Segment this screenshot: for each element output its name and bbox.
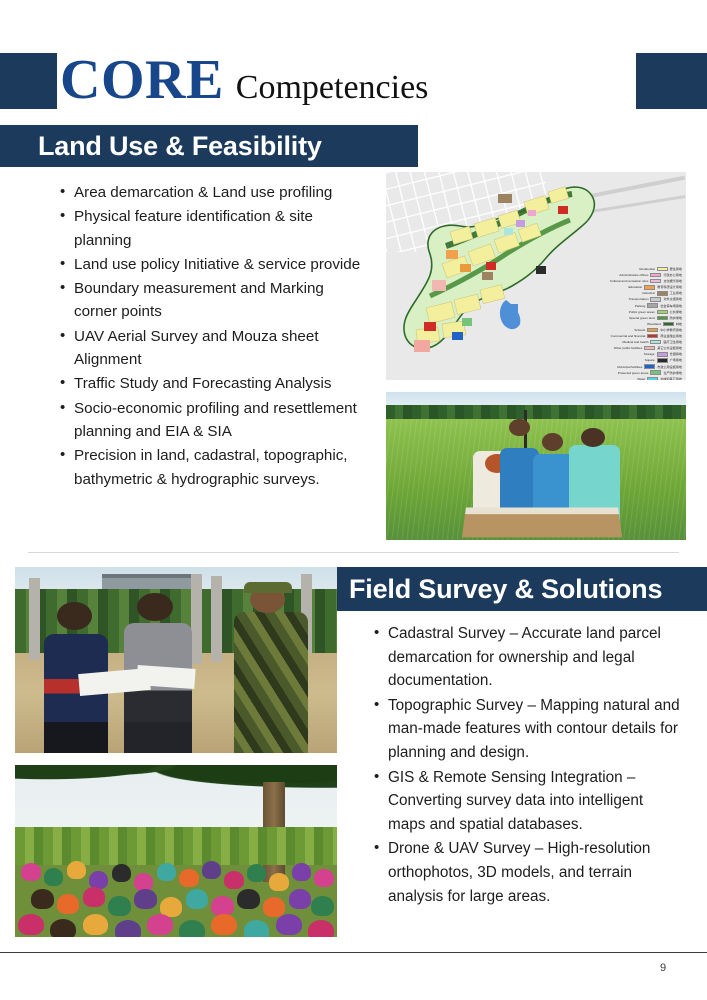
legend-swatch	[657, 291, 668, 295]
military-cap	[244, 582, 292, 593]
legend-swatch	[647, 334, 658, 338]
legend-swatch	[657, 310, 668, 314]
map-legend: Residential 居住用地 Administrative offices …	[582, 266, 682, 380]
bullet-list-field-survey: Cadastral Survey – Accurate land parcel …	[352, 622, 682, 909]
zoning-map-image: Residential 居住用地 Administrative offices …	[386, 172, 686, 380]
legend-label-cn: 水域和其它用地	[660, 376, 682, 380]
legend-swatch	[644, 285, 655, 289]
section-divider	[28, 552, 679, 553]
list-item: Traffic Study and Forecasting Analysis	[60, 372, 368, 395]
soldier-figure	[234, 612, 308, 753]
title-accent-left	[0, 53, 57, 109]
legend-label-en: Woodland	[647, 321, 661, 327]
legend-swatch	[650, 297, 661, 301]
list-item: Boundary measurement and Marking corner …	[60, 277, 368, 324]
list-item: Precision in land, cadastral, topographi…	[60, 444, 368, 491]
page-number: 9	[660, 962, 666, 974]
legend-label-en: Water	[637, 376, 645, 380]
legend-label-en: Other public facilities	[614, 345, 643, 351]
title-accent-right	[636, 53, 707, 109]
legend-label-en: Education	[628, 284, 642, 290]
list-item: Area demarcation & Land use profiling	[60, 181, 368, 204]
list-item: UAV Aerial Survey and Mouza sheet Alignm…	[60, 325, 368, 372]
section-header-land-use: Land Use & Feasibility	[0, 125, 418, 167]
field-survey-photo	[386, 392, 686, 540]
section-header-label: Field Survey & Solutions	[349, 574, 662, 605]
list-item: Socio-economic profiling and resettlemen…	[60, 397, 368, 444]
legend-swatch	[663, 322, 674, 326]
legend-swatch	[647, 303, 658, 307]
section-header-field-survey: Field Survey & Solutions	[337, 567, 707, 611]
list-item: Land use policy Initiative & service pro…	[60, 253, 368, 276]
crowd-of-people	[15, 854, 337, 937]
legend-swatch	[657, 316, 668, 320]
person-head	[581, 428, 605, 447]
document-review-photo	[15, 567, 337, 753]
legend-swatch	[647, 328, 658, 332]
legend-swatch	[650, 370, 661, 374]
list-item: GIS & Remote Sensing Integration – Conve…	[374, 766, 682, 837]
concrete-post	[191, 574, 202, 663]
legend-row: Water 水域和其它用地	[582, 376, 682, 380]
field-table	[462, 508, 622, 537]
legend-swatch	[644, 364, 655, 368]
list-item: Drone & UAV Survey – High-resolution ort…	[374, 837, 682, 908]
tree-canopy	[15, 765, 337, 803]
concrete-post	[211, 576, 222, 662]
list-item: Topographic Survey – Mapping natural and…	[374, 694, 682, 765]
list-item: Cadastral Survey – Accurate land parcel …	[374, 622, 682, 693]
concrete-post	[29, 578, 40, 660]
bullet-list-land-use: Area demarcation & Land use profiling Ph…	[38, 181, 368, 492]
legend-swatch	[657, 358, 668, 362]
page-title-primary: CORE	[60, 49, 224, 111]
legend-swatch	[644, 346, 655, 350]
community-gathering-photo	[15, 765, 337, 937]
legend-label-en: Square	[645, 357, 655, 363]
section-header-label: Land Use & Feasibility	[38, 131, 322, 162]
legend-swatch	[650, 279, 661, 283]
legend-swatch	[647, 377, 658, 380]
legend-swatch	[657, 352, 668, 356]
footer-rule	[0, 952, 707, 953]
list-item: Physical feature identification & site p…	[60, 205, 368, 252]
legend-swatch	[657, 267, 668, 271]
page-title-block: CORECompetencies	[0, 53, 707, 109]
person-head	[137, 593, 172, 621]
page-title-secondary: Competencies	[236, 69, 429, 106]
legend-swatch	[650, 273, 661, 277]
page-title: CORECompetencies	[60, 51, 428, 117]
legend-swatch	[650, 340, 661, 344]
